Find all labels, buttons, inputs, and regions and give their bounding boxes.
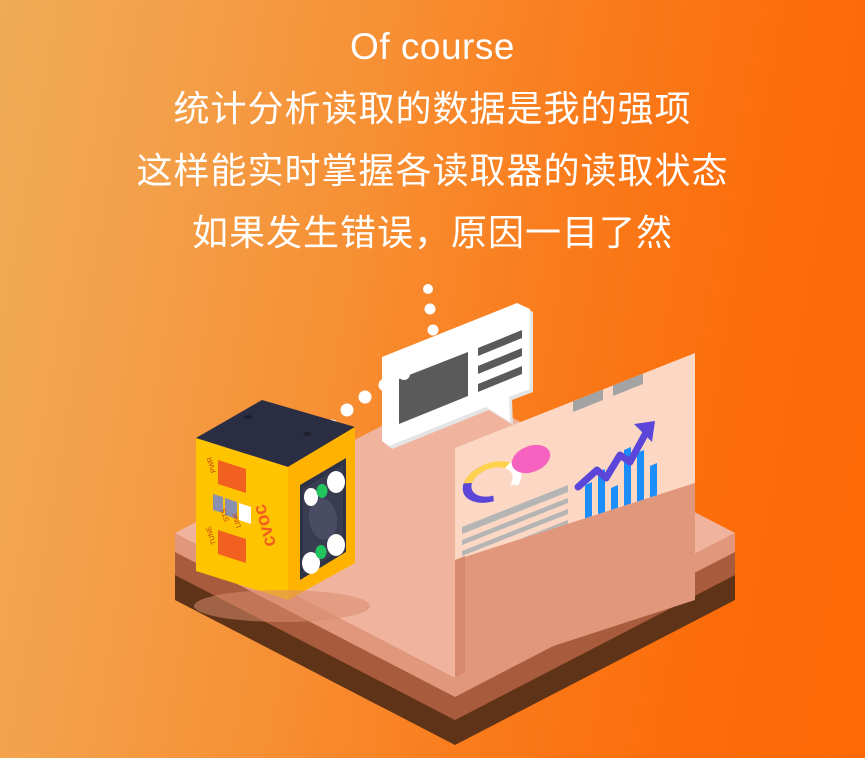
headline-line-3: 如果发生错误，原因一目了然 [0, 202, 865, 264]
headline-block: Of course 统计分析读取的数据是我的强项 这样能实时掌握各读取器的读取状… [0, 16, 865, 264]
poster-canvas: Of course 统计分析读取的数据是我的强项 这样能实时掌握各读取器的读取状… [0, 0, 865, 758]
headline-line-1: 统计分析读取的数据是我的强项 [0, 78, 865, 140]
headline-title-en: Of course [0, 16, 865, 78]
headline-line-2: 这样能实时掌握各读取器的读取状态 [0, 140, 865, 202]
reader-side-connectors [213, 460, 251, 563]
